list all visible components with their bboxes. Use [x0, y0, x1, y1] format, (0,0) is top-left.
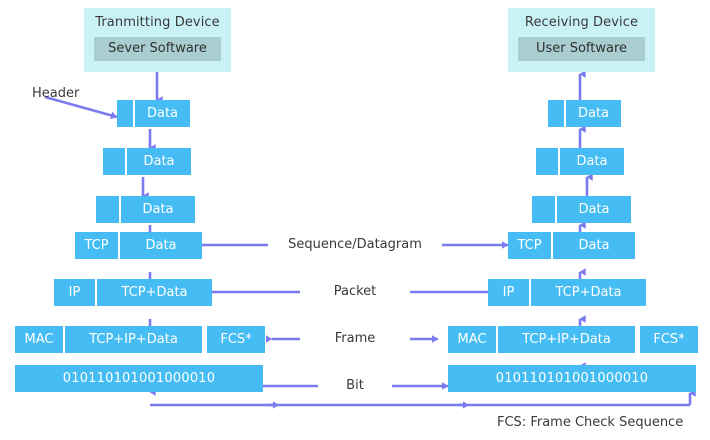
rx-layer-network-header: IP [488, 279, 529, 306]
tx-layer-network-payload: TCP+Data [97, 279, 212, 306]
pdu-label-sequence-datagram: Sequence/Datagram [270, 237, 440, 253]
receiving-device-software: User Software [518, 37, 645, 61]
rx-layer-session-payload: Data [557, 196, 631, 223]
fcs-footnote: FCS: Frame Check Sequence [497, 415, 683, 431]
header-callout-label: Header [32, 86, 79, 102]
rx-layer-physical-bits: 010110101001000010 [448, 365, 696, 392]
tx-layer-network-header: IP [54, 279, 95, 306]
rx-layer-presentation-header [536, 148, 558, 175]
rx-layer-transport-payload: Data [553, 232, 635, 259]
pdu-label-frame: Frame [305, 331, 405, 347]
encapsulation-diagram: Tranmitting Device Sever Software Data D… [0, 0, 710, 440]
tx-layer-presentation-payload: Data [127, 148, 191, 175]
pdu-label-bit: Bit [320, 378, 390, 394]
tx-layer-session-header [96, 196, 119, 223]
rx-layer-datalink-trailer: FCS* [640, 326, 698, 353]
transmitting-device-title: Tranmitting Device [84, 14, 231, 32]
rx-layer-session-header [532, 196, 555, 223]
rx-layer-transport-header: TCP [508, 232, 551, 259]
receiving-device-title: Receiving Device [508, 14, 655, 32]
transmitting-device-box: Tranmitting Device Sever Software [84, 8, 231, 72]
rx-layer-datalink-header: MAC [448, 326, 496, 353]
rx-layer-presentation-payload: Data [560, 148, 624, 175]
receiving-device-box: Receiving Device User Software [508, 8, 655, 72]
tx-layer-transport-payload: Data [120, 232, 202, 259]
tx-layer-application-payload: Data [135, 100, 190, 127]
tx-layer-presentation-header [103, 148, 125, 175]
transmitting-device-software: Sever Software [94, 37, 221, 61]
rx-layer-datalink-payload: TCP+IP+Data [498, 326, 635, 353]
tx-layer-physical-bits: 010110101001000010 [15, 365, 263, 392]
tx-layer-datalink-header: MAC [15, 326, 63, 353]
rx-layer-application-header [548, 100, 564, 127]
tx-layer-datalink-payload: TCP+IP+Data [65, 326, 202, 353]
tx-layer-datalink-trailer: FCS* [207, 326, 265, 353]
pdu-label-packet: Packet [305, 284, 405, 300]
tx-layer-session-payload: Data [121, 196, 195, 223]
tx-layer-transport-header: TCP [75, 232, 118, 259]
rx-layer-network-payload: TCP+Data [531, 279, 646, 306]
tx-layer-application-header [117, 100, 133, 127]
rx-layer-application-payload: Data [566, 100, 621, 127]
